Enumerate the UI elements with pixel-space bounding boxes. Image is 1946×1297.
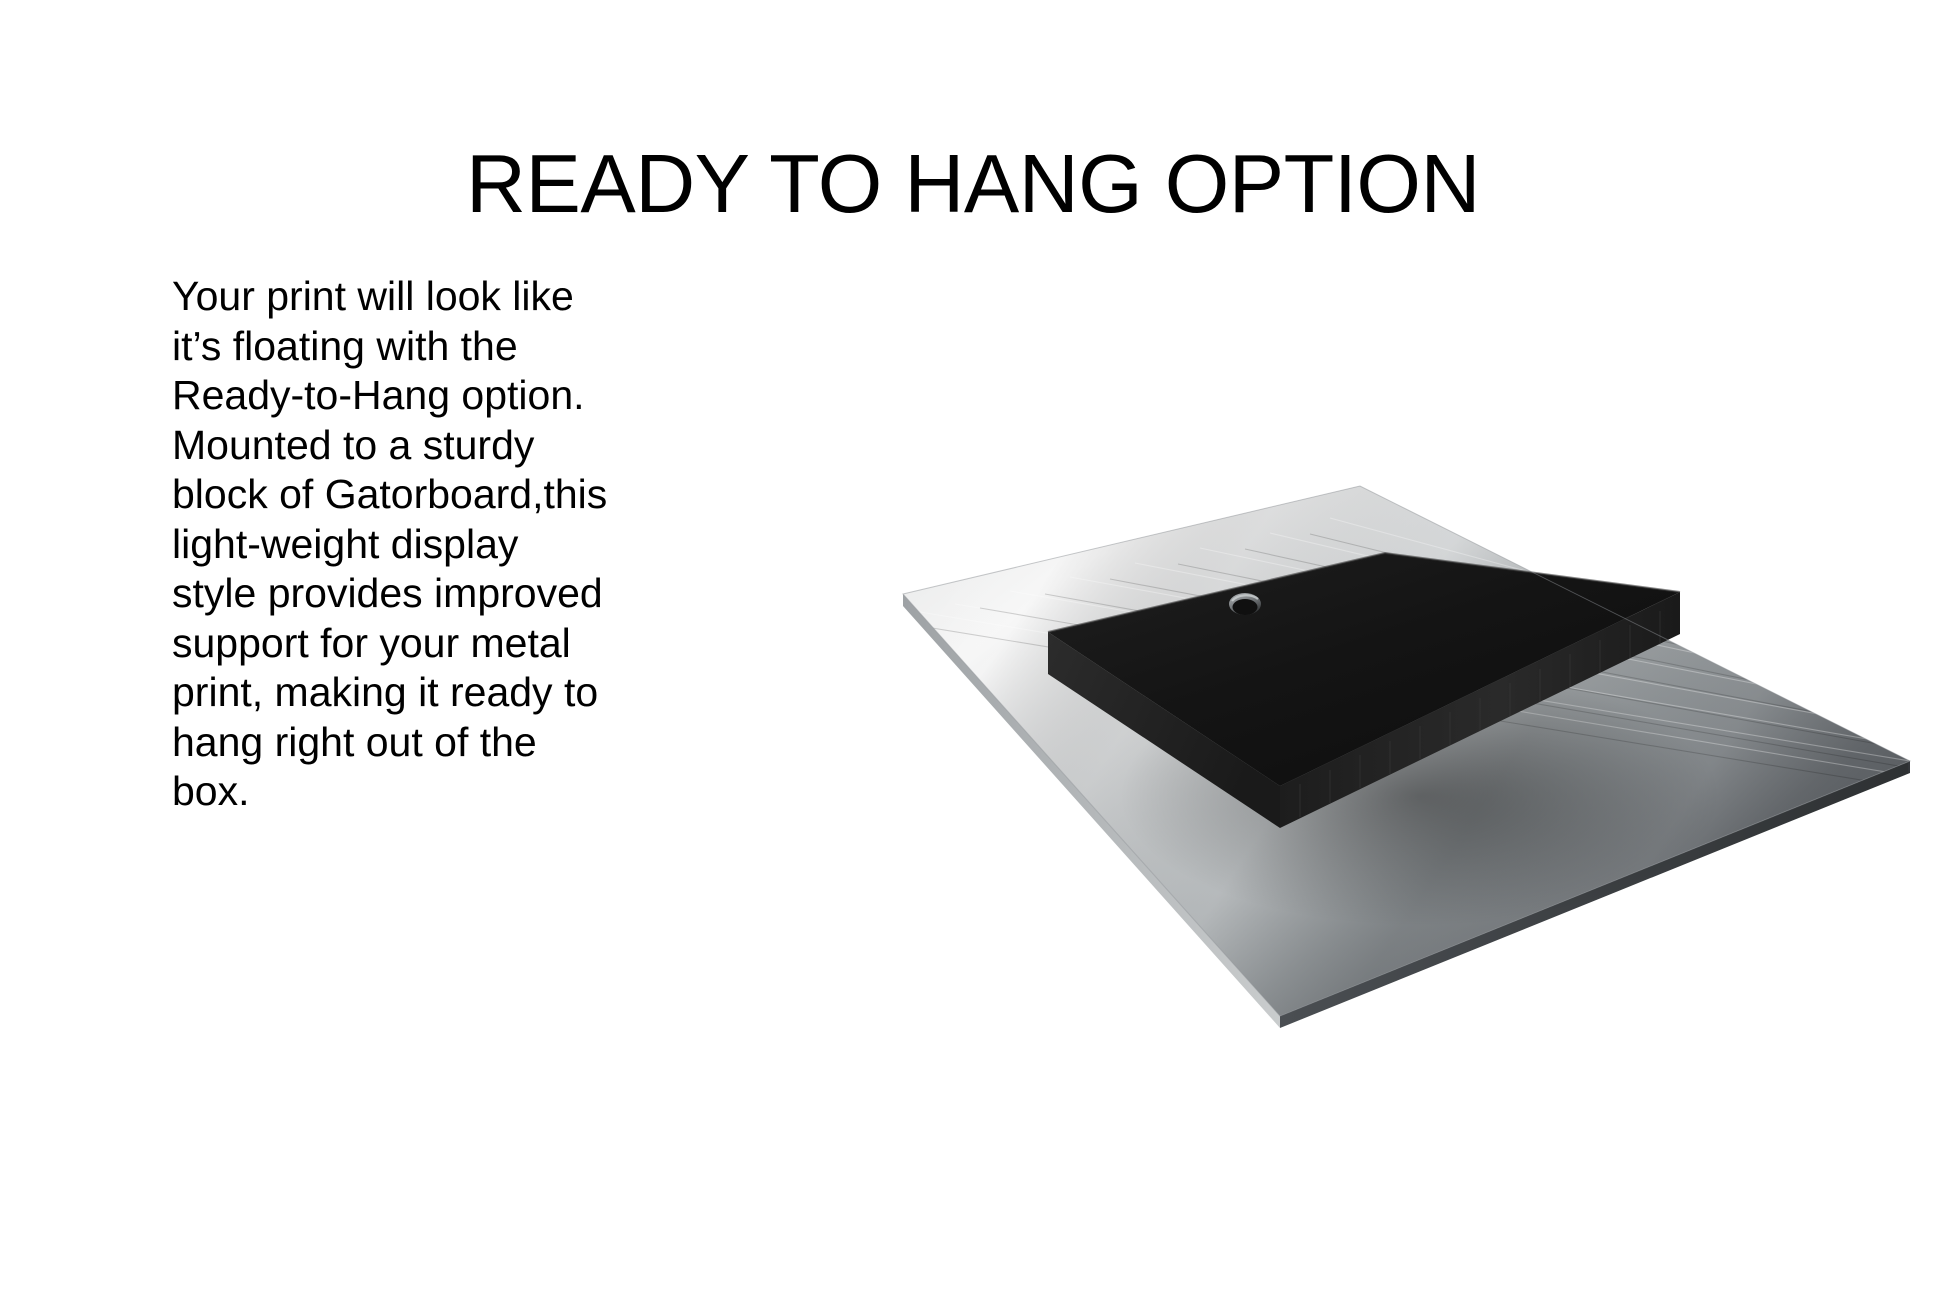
body-line: hang right out of the — [172, 718, 642, 768]
body-line: Ready-to-Hang option. — [172, 371, 642, 421]
body-line: it’s floating with the — [172, 322, 642, 372]
slide-canvas: READY TO HANG OPTION Your print will loo… — [0, 0, 1946, 1297]
body-line: light-weight display — [172, 520, 642, 570]
body-line: print, making it ready to — [172, 668, 642, 718]
body-line: style provides improved — [172, 569, 642, 619]
product-image — [860, 436, 1946, 1056]
body-line: Your print will look like — [172, 272, 642, 322]
page-title: READY TO HANG OPTION — [0, 142, 1946, 225]
body-line: support for your metal — [172, 619, 642, 669]
metal-print-illustration — [860, 436, 1946, 1056]
body-line: block of Gatorboard,this — [172, 470, 642, 520]
body-text-block: Your print will look like it’s floating … — [172, 272, 642, 817]
body-line: box. — [172, 767, 642, 817]
hanging-hole-icon — [1229, 593, 1261, 615]
body-line: Mounted to a sturdy — [172, 421, 642, 471]
